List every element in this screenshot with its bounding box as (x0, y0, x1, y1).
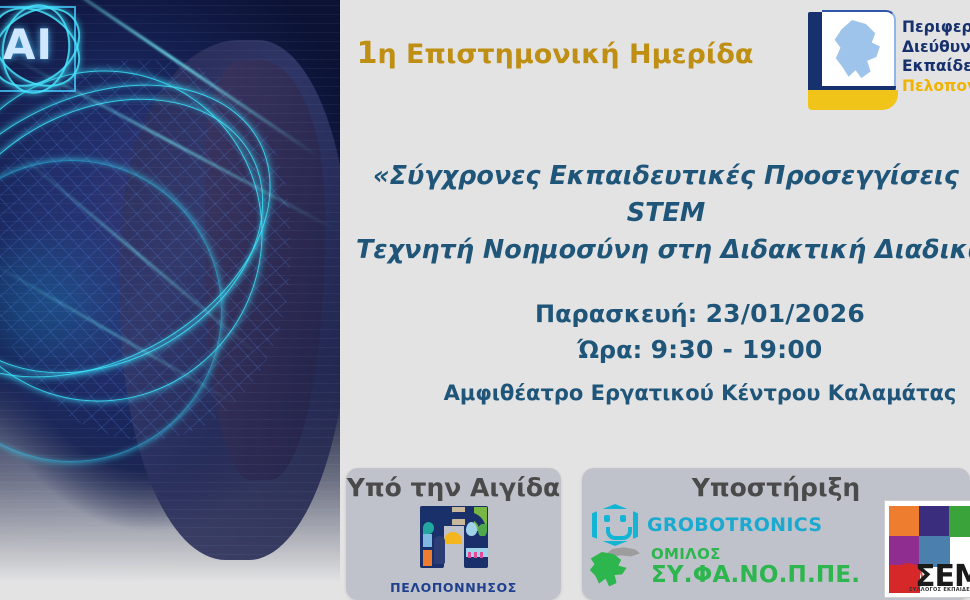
sponsor-syfanoppe[interactable]: ΟΜΙΛΟΣ ΣΥ.ΦΑ.ΝΟ.Π.ΠΕ. (588, 546, 860, 588)
book-base-gold (808, 90, 898, 110)
peloponnese-label: ΠΕΛΟΠΟΝΝΗΣΟΣ (346, 580, 561, 595)
logo-tile-yellow (444, 532, 462, 544)
aegis-panel: Υπό την Αιγίδα ΠΕΛΟΠΟΝΝΗΣΟΣ (346, 468, 561, 600)
kicker-rest: η Επιστημονική Ημερίδα (377, 39, 753, 70)
support-panel-title: Υποστήριξη (582, 468, 970, 502)
syfanoppe-top-label: ΟΜΙΛΟΣ (651, 547, 860, 563)
sponsor-grobotronics[interactable]: GROBOTRONICS (592, 504, 822, 546)
open-book-icon (800, 6, 900, 110)
org-line-1: Περιφερε (902, 18, 970, 38)
org-line-4: Πελοποννη (902, 77, 970, 97)
org-line-3: Εκπαίδευ (902, 57, 970, 77)
aegis-panel-title: Υπό την Αιγίδα (346, 468, 561, 502)
logo-tile-orange (423, 550, 432, 566)
sem-logo[interactable]: ΣΕΜ ΣΥΛΛΟΓΟΣ ΕΚΠΑΙΔΕΥΤΙΚΩΝ (884, 500, 970, 598)
peloponnese-map-icon (588, 546, 642, 588)
logo-tile-teal (423, 522, 434, 534)
robot-mouth (606, 527, 632, 540)
time-value: 9:30 - 19:00 (651, 335, 823, 364)
event-poster: AI Περιφερε Διεύθυνσ Εκπαίδευ Πελοποννη … (0, 0, 970, 600)
event-venue: Αμφιθέατρο Εργατικού Κέντρου Καλαμάτας (430, 381, 970, 405)
page-title: «Σύγχρονες Εκπαιδευτικές Προσεγγίσεις ST… (356, 158, 970, 269)
hero-image: AI (0, 0, 340, 600)
organisation-name: Περιφερε Διεύθυνσ Εκπαίδευ Πελοποννη (902, 18, 970, 96)
syfanoppe-main-label: ΣΥ.ΦΑ.ΝΟ.Π.ΠΕ. (651, 563, 860, 587)
robot-face (601, 513, 629, 537)
date-value: 23/01/2026 (706, 299, 865, 328)
syfanoppe-text: ΟΜΙΛΟΣ ΣΥ.ΦΑ.ΝΟ.Π.ΠΕ. (651, 547, 860, 587)
sem-logo-subtitle: ΣΥΛΛΟΓΟΣ ΕΚΠΑΙΔΕΥΤΙΚΩΝ (909, 587, 970, 593)
logo-tile-wave (466, 536, 488, 544)
peloponnese-region-logo (414, 506, 494, 568)
logo-tile-lightblue (423, 534, 432, 547)
event-date: Παρασκευή: 23/01/2026 (430, 296, 970, 332)
logo-tile-drop (466, 522, 477, 536)
time-label: Ώρα: (577, 336, 642, 364)
puzzle-piece-green (949, 506, 970, 537)
puzzle-piece-navy (919, 506, 950, 537)
date-label: Παρασκευή: (535, 300, 697, 328)
puzzle-piece-orange (889, 506, 920, 537)
title-line-2: STEM (356, 195, 970, 232)
grobotronics-label: GROBOTRONICS (647, 514, 822, 536)
event-time: Ώρα: 9:30 - 19:00 (430, 332, 970, 368)
logo-tile-dots (468, 552, 486, 558)
robot-head-icon (592, 504, 638, 546)
title-line-3: Τεχνητή Νοημοσύνη στη Διδακτική Διαδικασ… (356, 232, 970, 269)
title-line-1: «Σύγχρονες Εκπαιδευτικές Προσεγγίσεις (356, 158, 970, 195)
robot-eye-right (620, 515, 626, 522)
org-line-2: Διεύθυνσ (902, 38, 970, 58)
organisation-logo: Περιφερε Διεύθυνσ Εκπαίδευ Πελοποννη (800, 4, 970, 116)
robot-eye-left (604, 515, 610, 522)
logo-tile-bottle (434, 536, 445, 564)
map-green-shape (588, 552, 634, 588)
kicker-number: 1 (357, 36, 378, 71)
event-details: Παρασκευή: 23/01/2026 Ώρα: 9:30 - 19:00 … (430, 296, 970, 405)
event-kicker: 1η Επιστημονική Ημερίδα (340, 36, 770, 71)
ai-atom-icon: AI (0, 0, 94, 104)
